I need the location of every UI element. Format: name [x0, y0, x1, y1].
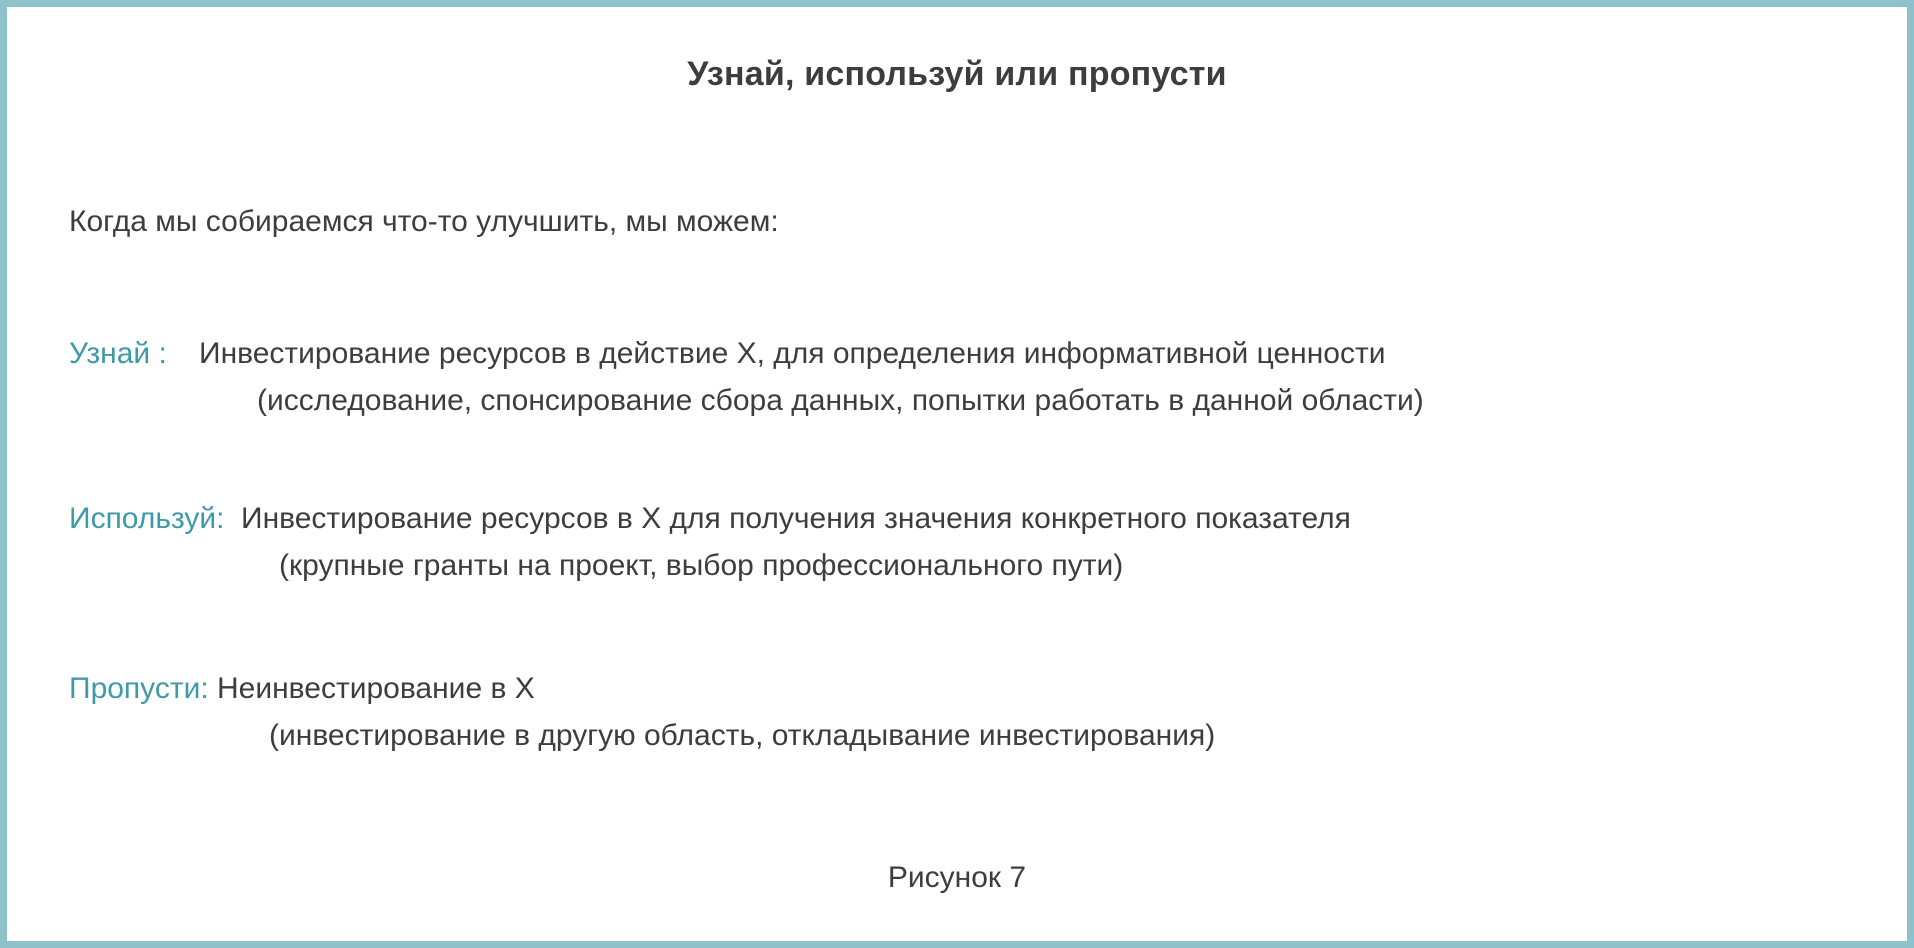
slide-frame: Узнай, используй или пропусти Когда мы с… — [0, 0, 1914, 948]
definition-block-know: Узнай :Инвестирование ресурсов в действи… — [69, 330, 1424, 424]
definition-text-use-line2: (крупные гранты на проект, выбор професс… — [69, 542, 1351, 589]
figure-caption: Рисунок 7 — [7, 861, 1907, 895]
definition-label-use: Используй: — [69, 495, 241, 542]
definition-text-know-line1: Инвестирование ресурсов в действие X, дл… — [199, 330, 1385, 377]
definition-text-use-line1: Инвестирование ресурсов в X для получени… — [241, 495, 1351, 542]
definition-row: Пропусти:Неинвестирование в X — [69, 665, 1215, 712]
intro-text: Когда мы собираемся что-то улучшить, мы … — [69, 205, 779, 239]
definition-row: Узнай :Инвестирование ресурсов в действи… — [69, 330, 1424, 377]
definition-row: Используй:Инвестирование ресурсов в X дл… — [69, 495, 1351, 542]
definition-block-use: Используй:Инвестирование ресурсов в X дл… — [69, 495, 1351, 589]
definition-label-know: Узнай : — [69, 330, 199, 377]
definition-block-skip: Пропусти:Неинвестирование в X (инвестиро… — [69, 665, 1215, 759]
definition-text-skip-line1: Неинвестирование в X — [217, 665, 535, 712]
definition-text-skip-line2: (инвестирование в другую область, отклад… — [69, 712, 1215, 759]
page-title: Узнай, используй или пропусти — [7, 55, 1907, 94]
slide-content-area: Узнай, используй или пропусти Когда мы с… — [7, 7, 1907, 941]
definition-text-know-line2: (исследование, спонсирование сбора данны… — [69, 377, 1424, 424]
definition-label-skip: Пропусти: — [69, 665, 217, 712]
